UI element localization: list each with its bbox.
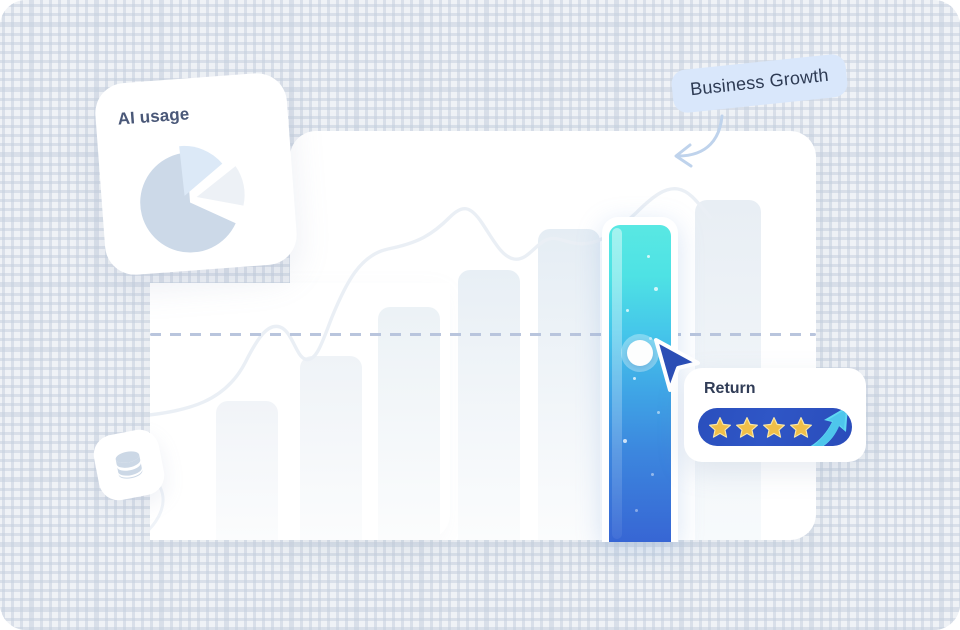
ai-usage-card[interactable]: AI usage [93,71,299,277]
database-stack-icon [109,445,149,485]
star-icon [734,415,760,440]
curved-arrow-icon [660,112,732,174]
return-card[interactable]: Return [684,368,866,462]
illustration-canvas: AI usage Business Growth Return [0,0,960,630]
rating-pill [698,408,852,446]
ai-usage-title: AI usage [117,104,190,129]
star-icon [761,415,787,440]
pie-chart-icon [129,130,263,257]
return-title: Return [704,380,756,398]
business-growth-badge[interactable]: Business Growth [670,53,849,114]
business-growth-label: Business Growth [689,65,829,99]
star-icon [707,415,733,440]
reference-line [150,333,816,336]
growth-arrow-icon [794,408,852,446]
